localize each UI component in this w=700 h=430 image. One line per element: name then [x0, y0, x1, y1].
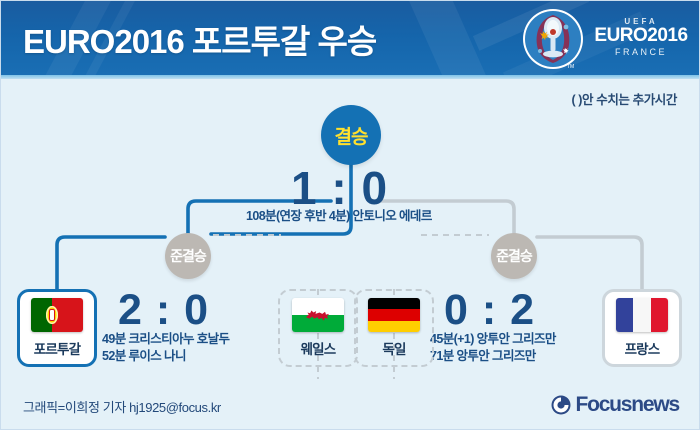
scorer-line: 45분(+1) 앙투안 그리즈만 — [430, 331, 556, 348]
score-detail-final: 108분(연장 후반 4분) 안토니오 에데르 — [246, 208, 432, 225]
flag-france-icon — [616, 298, 668, 332]
badge-final: 결승 — [321, 105, 381, 165]
page-title: EURO2016 포르투갈 우승 — [23, 15, 376, 63]
badge-semifinal-right: 준결승 — [491, 233, 537, 279]
welsh-dragon-icon — [304, 304, 331, 325]
emblem-uefa-text: UEFA — [593, 17, 689, 26]
line-portugal-to-semifinal — [57, 237, 165, 289]
infographic-root: EURO2016 포르투갈 우승 TM UEFA EURO2016 FRANCE… — [0, 0, 700, 430]
line-france-to-semifinal — [537, 237, 642, 289]
badge-semifinal-left: 준결승 — [165, 233, 211, 279]
flag-germany-icon — [368, 298, 420, 332]
flag-portugal-icon — [31, 298, 83, 332]
scorer-line: 49분 크리스티아누 호날두 — [102, 331, 229, 348]
graphic-credit: 그래픽=이희정 기자 hj1925@focus.kr — [23, 397, 221, 416]
emblem-france-text: FRANCE — [593, 47, 689, 57]
svg-text:TM: TM — [567, 64, 574, 70]
emblem-wordmark: UEFA EURO2016 FRANCE — [593, 17, 689, 57]
flag-wales-icon — [292, 298, 344, 332]
team-card-france: 프랑스 — [602, 289, 682, 367]
header-banner: EURO2016 포르투갈 우승 TM UEFA EURO2016 FRANCE — [1, 1, 700, 79]
score-semifinal-left: 2 : 0 — [118, 286, 209, 335]
focus-news-wordmark: Focusnews — [575, 393, 679, 417]
team-name-france: 프랑스 — [625, 338, 660, 358]
score-detail-semifinal-right: 45분(+1) 앙투안 그리즈만 71분 앙투안 그리즈만 — [430, 331, 556, 365]
score-semifinal-right: 0 : 2 — [444, 286, 535, 335]
team-name-wales: 웨일스 — [301, 338, 336, 358]
team-card-wales: 웨일스 — [278, 289, 358, 367]
uefa-euro-trophy-icon: TM — [521, 7, 585, 71]
scorer-line: 71분 앙투안 그리즈만 — [430, 348, 556, 365]
focus-swirl-icon — [550, 394, 572, 416]
focus-news-logo: Focusnews — [550, 393, 679, 417]
emblem-euro-text: EURO2016 — [593, 26, 689, 46]
team-name-portugal: 포르투갈 — [34, 338, 80, 358]
team-card-germany: 독일 — [354, 289, 434, 367]
score-detail-semifinal-left: 49분 크리스티아누 호날두 52분 루이스 나니 — [102, 331, 229, 365]
team-card-portugal: 포르투갈 — [17, 289, 97, 367]
score-final: 1 : 0 — [291, 161, 388, 215]
scorer-line: 52분 루이스 나니 — [102, 348, 229, 365]
team-name-germany: 독일 — [382, 338, 405, 358]
